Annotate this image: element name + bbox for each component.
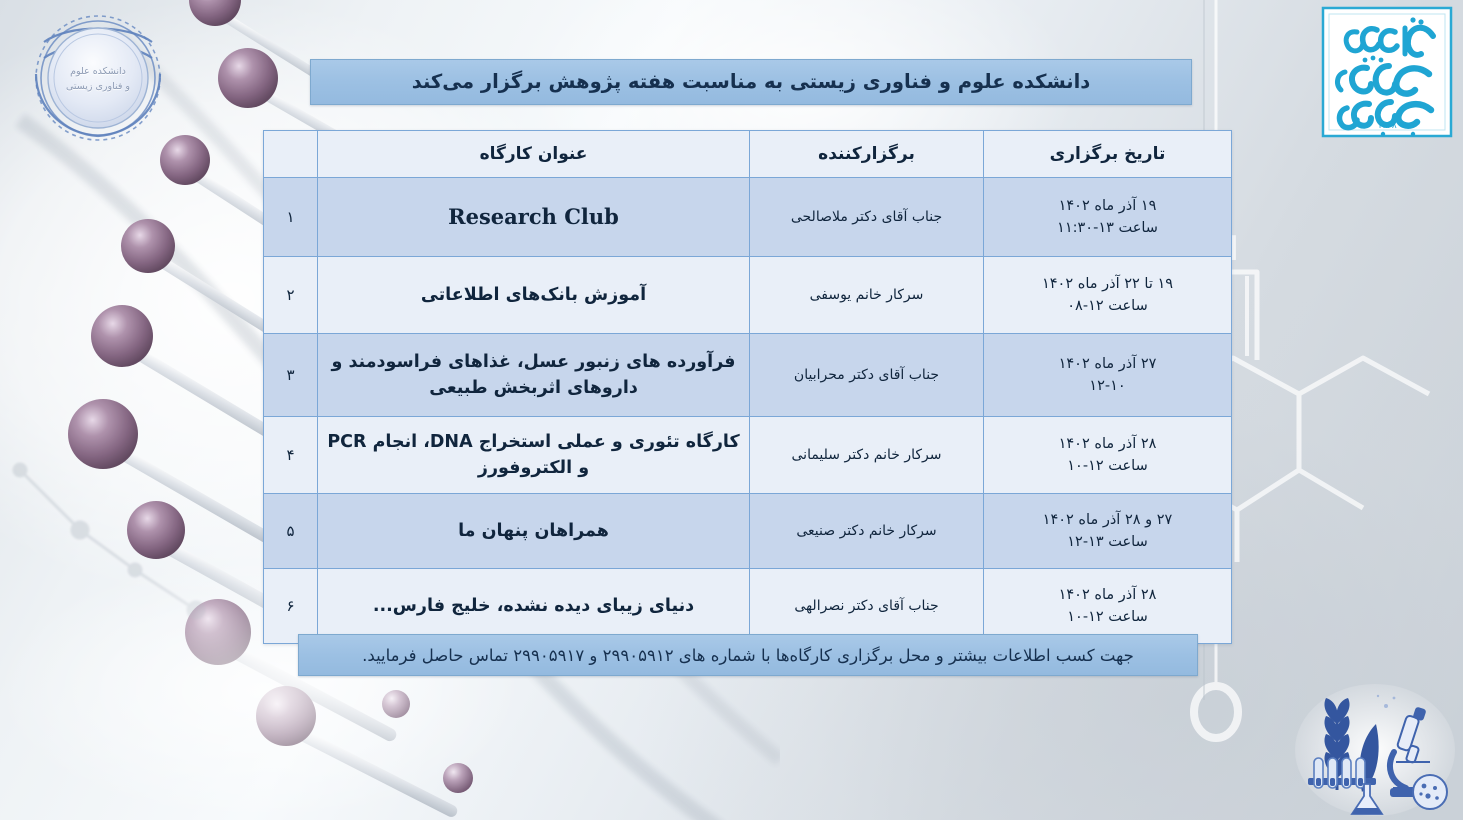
date-line-1: ۱۹ تا ۲۲ آذر ماه ۱۴۰۲ bbox=[990, 273, 1225, 295]
cell-date: ۲۸ آذر ماه ۱۴۰۲ ساعت ۱۲-۱۰ bbox=[984, 417, 1232, 494]
cell-title: دنیای زیبای دیده نشده، خلیج فارس... bbox=[318, 569, 750, 644]
cell-host: جناب آقای دکتر ملاصالحی bbox=[750, 178, 984, 257]
date-line-2: ۱۲-۱۰ bbox=[990, 375, 1225, 397]
cell-number: ۶ bbox=[264, 569, 318, 644]
lab-illustration-logo bbox=[1290, 680, 1460, 818]
date-line-1: ۲۷ و ۲۸ آذر ماه ۱۴۰۲ bbox=[990, 509, 1225, 531]
cell-title: آموزش بانک‌های اطلاعاتی bbox=[318, 257, 750, 334]
date-line-1: ۲۸ آذر ماه ۱۴۰۲ bbox=[990, 584, 1225, 606]
cell-host: سرکار خانم دکتر سلیمانی bbox=[750, 417, 984, 494]
date-line-2: ساعت ۱۳-۱۲ bbox=[990, 531, 1225, 553]
cell-date: ۱۹ تا ۲۲ آذر ماه ۱۴۰۲ ساعت ۱۲-۰۸ bbox=[984, 257, 1232, 334]
cell-host: جناب آقای دکتر نصرالهی bbox=[750, 569, 984, 644]
poster-canvas: CH 3 H NH bbox=[0, 0, 1463, 820]
cell-number: ۱ bbox=[264, 178, 318, 257]
cell-title: Research Club bbox=[318, 178, 750, 257]
column-header-number bbox=[264, 131, 318, 178]
table-body: ۱۹ آذر ماه ۱۴۰۲ ساعت ۱۳-۱۱:۳۰ جناب آقای … bbox=[264, 178, 1232, 644]
workshop-table-container: تاریخ برگزاری برگزارکننده عنوان کارگاه ۱… bbox=[264, 130, 1232, 644]
cell-date: ۲۸ آذر ماه ۱۴۰۲ ساعت ۱۲-۱۰ bbox=[984, 569, 1232, 644]
table-row: ۲۷ و ۲۸ آذر ماه ۱۴۰۲ ساعت ۱۳-۱۲ سرکار خا… bbox=[264, 494, 1232, 569]
date-line-2: ساعت ۱۳-۱۱:۳۰ bbox=[990, 217, 1225, 239]
university-logo: ١٣٣٨ bbox=[1317, 2, 1457, 144]
cell-date: ۲۷ و ۲۸ آذر ماه ۱۴۰۲ ساعت ۱۳-۱۲ bbox=[984, 494, 1232, 569]
table-row: ۲۷ آذر ماه ۱۴۰۲ ۱۲-۱۰ جناب آقای دکتر محر… bbox=[264, 334, 1232, 417]
table-header: تاریخ برگزاری برگزارکننده عنوان کارگاه bbox=[264, 131, 1232, 178]
title-banner: دانشکده علوم و فناوری زیستی به مناسبت هف… bbox=[310, 59, 1192, 105]
cell-host: سرکار خانم یوسفی bbox=[750, 257, 984, 334]
cell-number: ۳ bbox=[264, 334, 318, 417]
faculty-seal-logo: دانشکده علوم و فناوری زیستی bbox=[14, 12, 182, 144]
date-line-2: ساعت ۱۲-۱۰ bbox=[990, 606, 1225, 628]
faculty-seal-text: دانشکده علوم و فناوری زیستی bbox=[14, 64, 182, 94]
cell-date: ۲۷ آذر ماه ۱۴۰۲ ۱۲-۱۰ bbox=[984, 334, 1232, 417]
faculty-seal-line1: دانشکده علوم bbox=[70, 66, 126, 77]
faculty-seal-line2: و فناوری زیستی bbox=[66, 81, 130, 92]
cell-title: همراهان پنهان ما bbox=[318, 494, 750, 569]
date-line-1: ۲۷ آذر ماه ۱۴۰۲ bbox=[990, 353, 1225, 375]
workshop-table: تاریخ برگزاری برگزارکننده عنوان کارگاه ۱… bbox=[263, 130, 1232, 644]
table-row: ۲۸ آذر ماه ۱۴۰۲ ساعت ۱۲-۱۰ جناب آقای دکت… bbox=[264, 569, 1232, 644]
column-header-date: تاریخ برگزاری bbox=[984, 131, 1232, 178]
footer-banner-text: جهت کسب اطلاعات بیشتر و محل برگزاری کارگ… bbox=[362, 646, 1134, 665]
table-row: ۱۹ آذر ماه ۱۴۰۲ ساعت ۱۳-۱۱:۳۰ جناب آقای … bbox=[264, 178, 1232, 257]
cell-title: کارگاه تئوری و عملی استخراج DNA، انجام P… bbox=[318, 417, 750, 494]
cell-number: ۲ bbox=[264, 257, 318, 334]
table-row: ۲۸ آذر ماه ۱۴۰۲ ساعت ۱۲-۱۰ سرکار خانم دک… bbox=[264, 417, 1232, 494]
table-header-row: تاریخ برگزاری برگزارکننده عنوان کارگاه bbox=[264, 131, 1232, 178]
date-line-1: ۱۹ آذر ماه ۱۴۰۲ bbox=[990, 195, 1225, 217]
date-line-2: ساعت ۱۲-۱۰ bbox=[990, 455, 1225, 477]
cell-number: ۴ bbox=[264, 417, 318, 494]
title-banner-text: دانشکده علوم و فناوری زیستی به مناسبت هف… bbox=[412, 70, 1091, 93]
cell-host: جناب آقای دکتر محرابیان bbox=[750, 334, 984, 417]
university-logo-year: ١٣٣٨ bbox=[1377, 121, 1397, 131]
footer-contact-banner: جهت کسب اطلاعات بیشتر و محل برگزاری کارگ… bbox=[298, 634, 1198, 676]
date-line-1: ۲۸ آذر ماه ۱۴۰۲ bbox=[990, 433, 1225, 455]
cell-number: ۵ bbox=[264, 494, 318, 569]
table-row: ۱۹ تا ۲۲ آذر ماه ۱۴۰۲ ساعت ۱۲-۰۸ سرکار خ… bbox=[264, 257, 1232, 334]
date-line-2: ساعت ۱۲-۰۸ bbox=[990, 295, 1225, 317]
column-header-title: عنوان کارگاه bbox=[318, 131, 750, 178]
column-header-host: برگزارکننده bbox=[750, 131, 984, 178]
cell-host: سرکار خانم دکتر صنیعی bbox=[750, 494, 984, 569]
cell-title: فرآورده های زنبور عسل، غذاهای فراسودمند … bbox=[318, 334, 750, 417]
cell-date: ۱۹ آذر ماه ۱۴۰۲ ساعت ۱۳-۱۱:۳۰ bbox=[984, 178, 1232, 257]
